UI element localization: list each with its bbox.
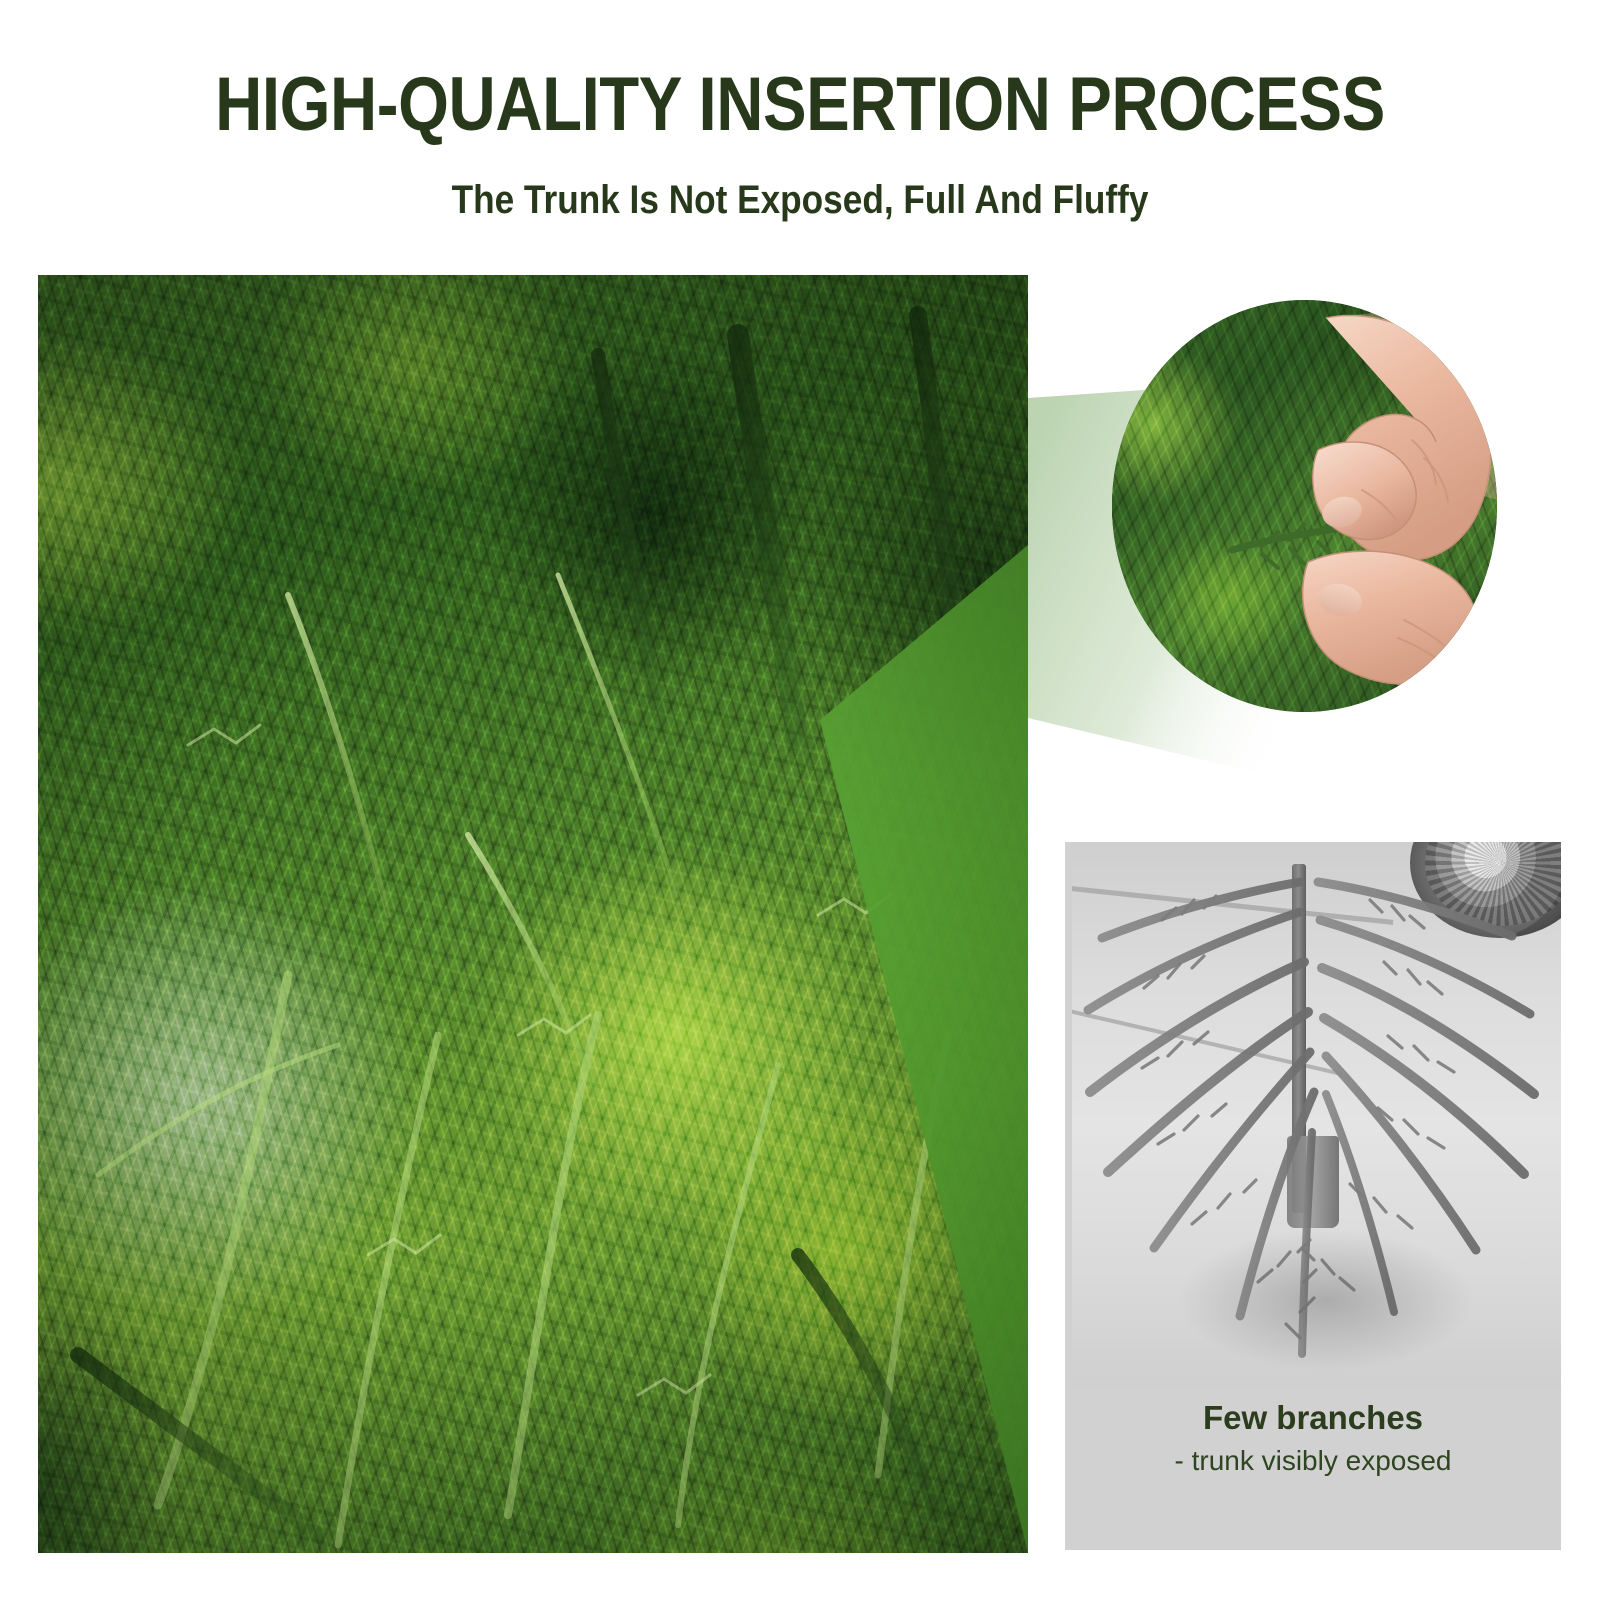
hand-illustration (1112, 300, 1497, 712)
hero-foliage-photo (38, 275, 1028, 1553)
caption-subtext: - trunk visibly exposed (1065, 1444, 1561, 1478)
ground-shadow (1072, 842, 1561, 1387)
comparison-caption: Few branches - trunk visibly exposed (1065, 1398, 1561, 1478)
caption-title: Few branches (1065, 1398, 1561, 1438)
infographic-canvas: HIGH-QUALITY INSERTION PROCESS The Trunk… (0, 0, 1600, 1600)
comparison-card: Few branches - trunk visibly exposed (1065, 842, 1561, 1550)
circle-inset-hand-detail (1112, 300, 1497, 712)
sparse-tree-grayscale-photo (1072, 842, 1561, 1387)
hero-vignette (38, 275, 1028, 1553)
page-subtitle: The Trunk Is Not Exposed, Full And Fluff… (96, 176, 1504, 224)
page-title: HIGH-QUALITY INSERTION PROCESS (112, 62, 1488, 148)
header: HIGH-QUALITY INSERTION PROCESS The Trunk… (0, 0, 1600, 250)
